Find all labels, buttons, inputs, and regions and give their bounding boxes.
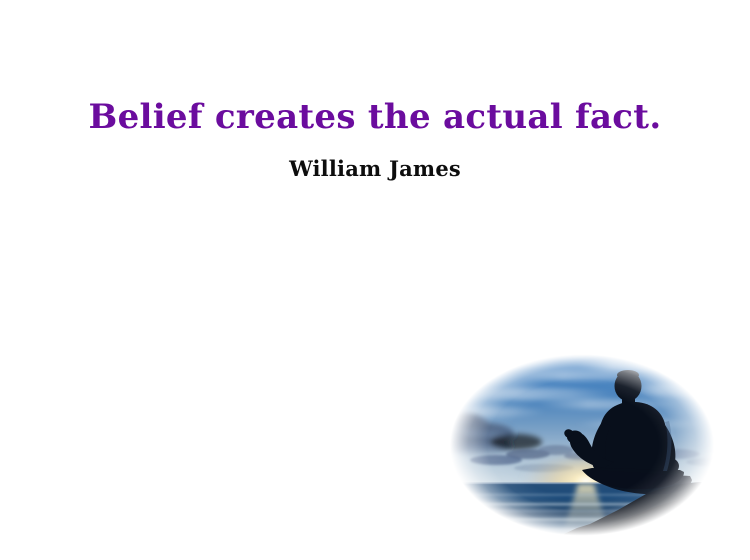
- meditation-sunset-illustration: [432, 342, 732, 548]
- quote-author: William James: [0, 155, 750, 183]
- quote-slide: Belief creates the actual fact. William …: [0, 0, 750, 560]
- meditation-sunset-photo: [432, 342, 732, 548]
- quote-text: Belief creates the actual fact.: [0, 95, 750, 139]
